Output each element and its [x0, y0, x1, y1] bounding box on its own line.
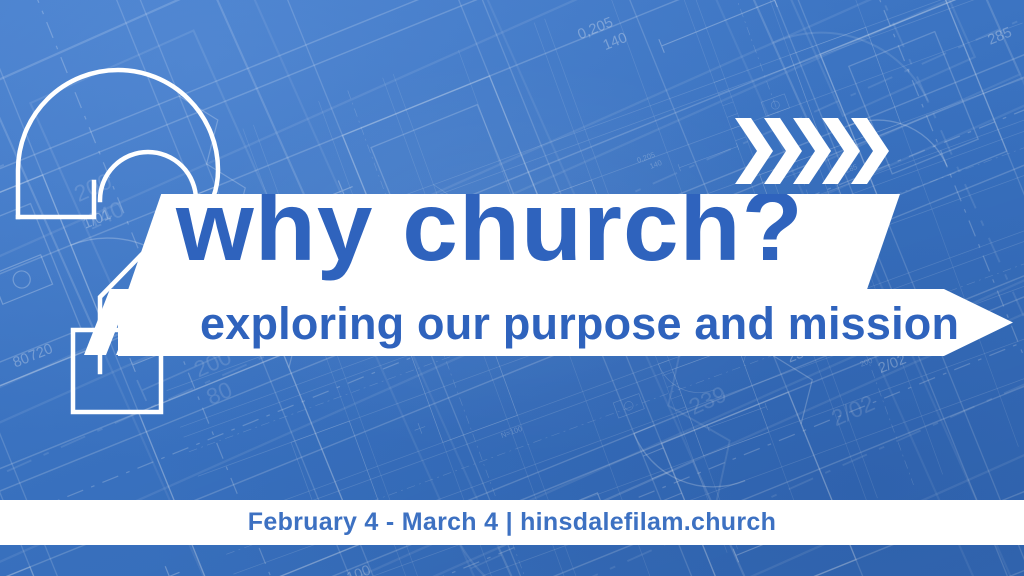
- footer-bar: February 4 - March 4 | hinsdalefilam.chu…: [0, 500, 1024, 545]
- page-title: why church?: [176, 194, 804, 274]
- chevron-right-icon: [735, 118, 895, 184]
- subtitle-text: exploring our purpose and mission: [200, 290, 959, 357]
- footer-text: February 4 - March 4 | hinsdalefilam.chu…: [248, 508, 776, 537]
- title-banner: why church?: [128, 194, 900, 290]
- subtitle-banner: exploring our purpose and mission: [118, 289, 1013, 356]
- slide-canvas: 1/01 80 720 200 140 N=100 0,205 140 200 …: [0, 0, 1024, 576]
